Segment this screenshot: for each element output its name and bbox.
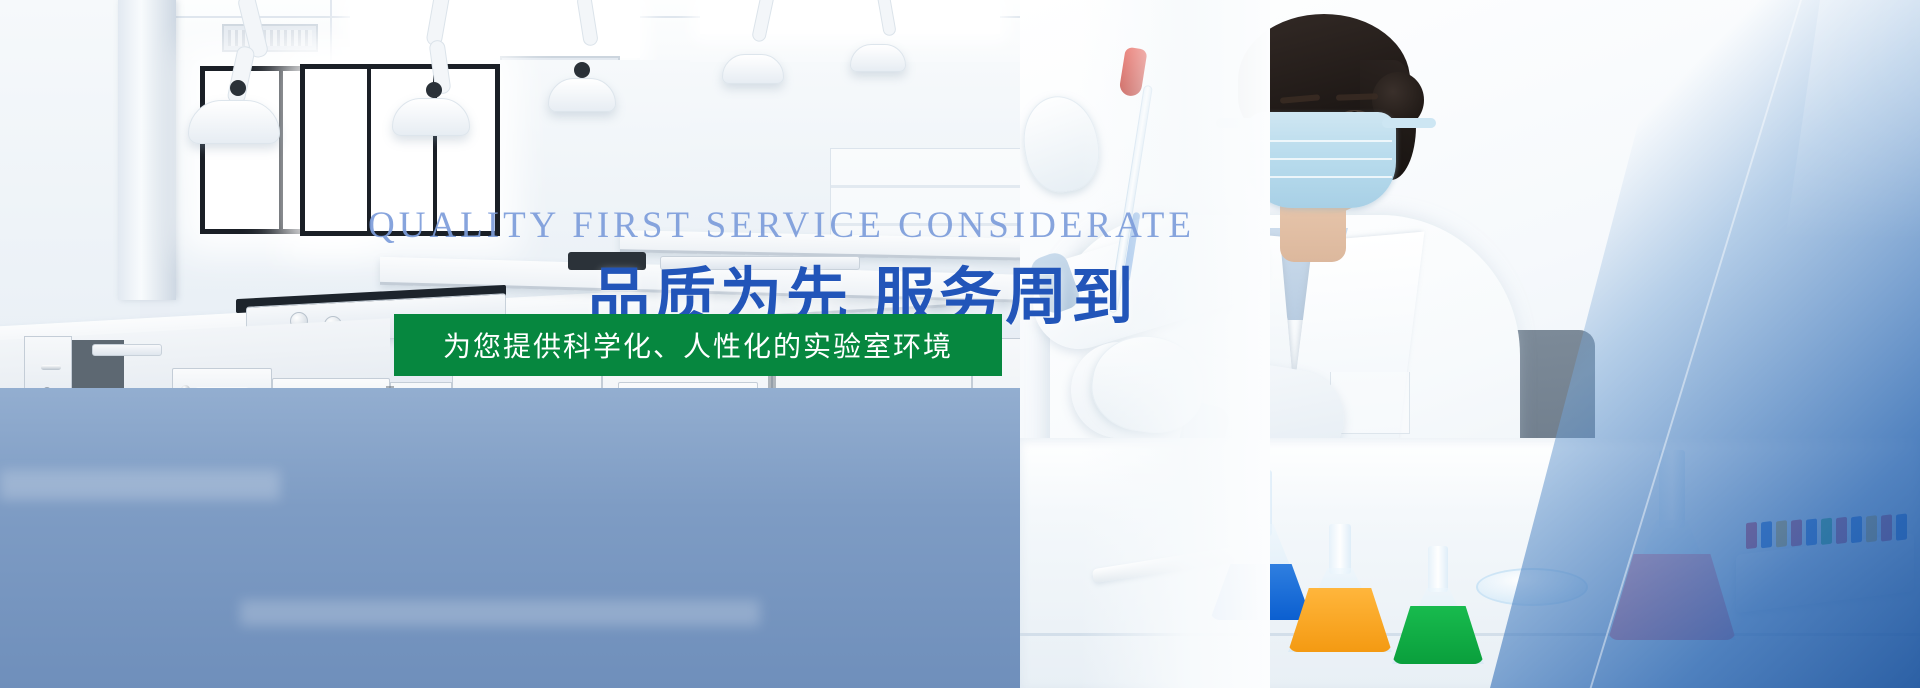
english-tagline: QUALITY FIRST SERVICE CONSIDERATE: [368, 204, 1268, 247]
subtitle-text: 为您提供科学化、人性化的实验室环境: [443, 325, 953, 365]
subtitle-bar: 为您提供科学化、人性化的实验室环境: [394, 314, 1002, 376]
banner-copy: QUALITY FIRST SERVICE CONSIDERATE 品质为先 服…: [0, 0, 1920, 688]
hero-banner: QUALITY FIRST SERVICE CONSIDERATE 品质为先 服…: [0, 0, 1920, 688]
